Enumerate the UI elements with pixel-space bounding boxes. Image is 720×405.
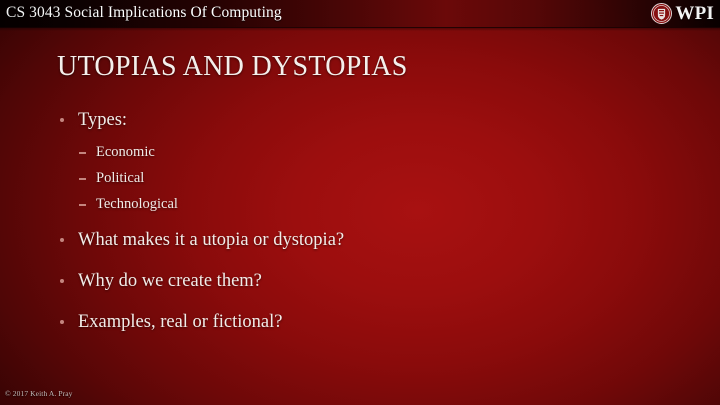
bullet-label: Types: bbox=[78, 110, 127, 130]
sub-bullet-item: Political bbox=[56, 169, 656, 188]
bullet-label: What makes it a utopia or dystopia? bbox=[78, 230, 344, 250]
bullet-dash-icon bbox=[79, 204, 86, 206]
bullet-sublist: Economic Political Technological bbox=[56, 143, 656, 214]
bullet-label: Why do we create them? bbox=[78, 271, 262, 291]
wpi-wordmark: WPI bbox=[675, 3, 714, 24]
copyright-notice: © 2017 Keith A. Pray bbox=[5, 389, 73, 399]
wpi-seal-icon bbox=[651, 3, 672, 24]
sub-bullet-label: Technological bbox=[96, 196, 178, 212]
sub-bullet-item: Economic bbox=[56, 143, 656, 162]
slide-body-list: Types: Economic Political Technological … bbox=[56, 108, 656, 345]
bullet-dash-icon bbox=[79, 178, 86, 180]
sub-bullet-label: Political bbox=[96, 170, 144, 186]
bullet-item: Why do we create them? bbox=[56, 269, 656, 293]
bullet-item: Types: bbox=[56, 108, 656, 132]
bullet-item: Examples, real or fictional? bbox=[56, 310, 656, 334]
bullet-item: What makes it a utopia or dystopia? bbox=[56, 228, 656, 252]
course-title: CS 3043 Social Implications Of Computing bbox=[6, 3, 282, 23]
bullet-dash-icon bbox=[79, 152, 86, 154]
bullet-dot-icon bbox=[60, 238, 64, 242]
slide-canvas: CS 3043 Social Implications Of Computing… bbox=[0, 0, 720, 405]
slide-header-bar: CS 3043 Social Implications Of Computing… bbox=[0, 0, 720, 27]
bullet-label: Examples, real or fictional? bbox=[78, 312, 282, 332]
wpi-logo: WPI bbox=[651, 2, 714, 25]
sub-bullet-item: Technological bbox=[56, 195, 656, 214]
bullet-dot-icon bbox=[60, 320, 64, 324]
bullet-dot-icon bbox=[60, 279, 64, 283]
sub-bullet-label: Economic bbox=[96, 144, 155, 160]
slide-title: UTOPIAS AND DYSTOPIAS bbox=[57, 50, 408, 84]
bullet-dot-icon bbox=[60, 118, 64, 122]
